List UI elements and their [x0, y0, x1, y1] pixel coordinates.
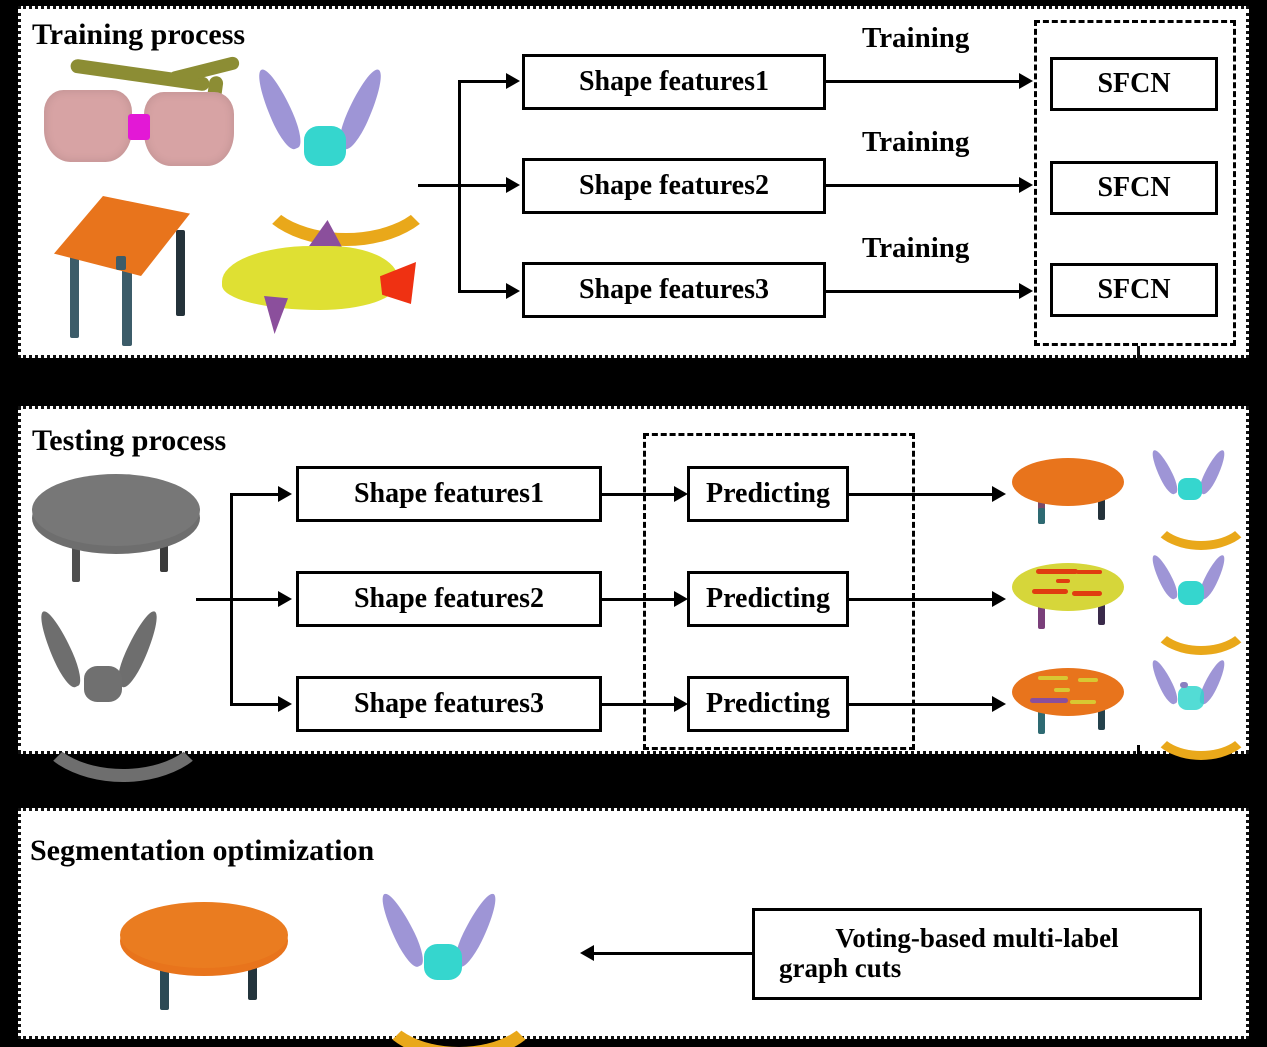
training-branch-2: [458, 184, 508, 187]
voting-to-result-edge: [594, 952, 752, 955]
arrow-left-icon-result: [580, 945, 594, 961]
arrow-right-icon-train-3: [506, 283, 520, 299]
output-pliers-row-3: [1148, 658, 1240, 734]
shape-features-box-2[interactable]: Shape features2: [522, 158, 826, 214]
output-pliers-row-1: [1148, 448, 1240, 524]
voting-box-line-1: Voting-based multi-label: [835, 924, 1118, 954]
model-table: [48, 192, 228, 347]
test-shape-features-box-3[interactable]: Shape features3: [296, 676, 602, 732]
output-table-row-1: [1010, 452, 1130, 532]
training-edge-3: [826, 290, 1022, 293]
arrow-right-icon-test-1: [278, 486, 292, 502]
result-round-table: [118, 898, 298, 1010]
testing-output-edge-2: [849, 598, 995, 601]
training-edge-label-1: Training: [862, 22, 969, 55]
predicting-box-2[interactable]: Predicting: [687, 571, 849, 627]
voting-box-line-2: graph cuts: [779, 954, 901, 984]
training-edge-label-2: Training: [862, 126, 969, 159]
training-edge-label-3: Training: [862, 232, 969, 265]
testing-branch-1: [230, 493, 280, 496]
panel-optimization-title: Segmentation optimization: [30, 834, 374, 868]
testing-bus-in: [196, 598, 232, 601]
output-table-row-2: [1010, 557, 1130, 637]
arrow-right-icon-sfcn-3: [1019, 283, 1033, 299]
panel-testing-title: Testing process: [32, 424, 226, 458]
sfcn-box-1[interactable]: SFCN: [1050, 57, 1218, 111]
testing-branch-3: [230, 703, 280, 706]
predicting-box-3[interactable]: Predicting: [687, 676, 849, 732]
arrow-right-icon-train-2: [506, 177, 520, 193]
training-branch-1: [458, 80, 508, 83]
arrow-right-icon-out-2: [992, 591, 1006, 607]
arrow-right-icon-sfcn-1: [1019, 73, 1033, 89]
arrow-right-icon-test-2: [278, 591, 292, 607]
arrow-right-icon-out-3: [992, 696, 1006, 712]
sfcn-box-3[interactable]: SFCN: [1050, 263, 1218, 317]
predicting-box-1[interactable]: Predicting: [687, 466, 849, 522]
output-table-row-3: [1010, 662, 1130, 742]
testing-output-edge-3: [849, 703, 995, 706]
training-edge-1: [826, 80, 1022, 83]
model-pliers: [246, 66, 428, 204]
training-bus-in: [418, 184, 460, 187]
training-edge-2: [826, 184, 1022, 187]
test-shape-features-box-2[interactable]: Shape features2: [296, 571, 602, 627]
model-glasses: [38, 62, 238, 187]
figure-canvas: Training process Shape features1 Sh: [0, 0, 1267, 1047]
shape-features-box-1[interactable]: Shape features1: [522, 54, 826, 110]
panel-training-title: Training process: [32, 18, 245, 52]
testing-branch-2: [230, 598, 280, 601]
arrow-right-icon-sfcn-2: [1019, 177, 1033, 193]
arrow-right-icon-train-1: [506, 73, 520, 89]
testing-output-edge-1: [849, 493, 995, 496]
model-dolphin: [218, 218, 438, 343]
test-shape-features-box-1[interactable]: Shape features1: [296, 466, 602, 522]
output-pliers-row-2: [1148, 553, 1240, 629]
arrow-right-icon-test-3: [278, 696, 292, 712]
shape-features-box-3[interactable]: Shape features3: [522, 262, 826, 318]
result-pliers: [372, 890, 530, 1010]
connector-test-stub: [1137, 745, 1140, 759]
arrow-right-icon-out-1: [992, 486, 1006, 502]
model-round-table-gray: [28, 468, 208, 588]
connector-train-stub: [1137, 346, 1140, 360]
sfcn-box-2[interactable]: SFCN: [1050, 161, 1218, 215]
voting-graph-cuts-box[interactable]: Voting-based multi-label graph cuts: [752, 908, 1202, 1000]
training-branch-3: [458, 290, 508, 293]
model-pliers-gray: [30, 608, 200, 738]
